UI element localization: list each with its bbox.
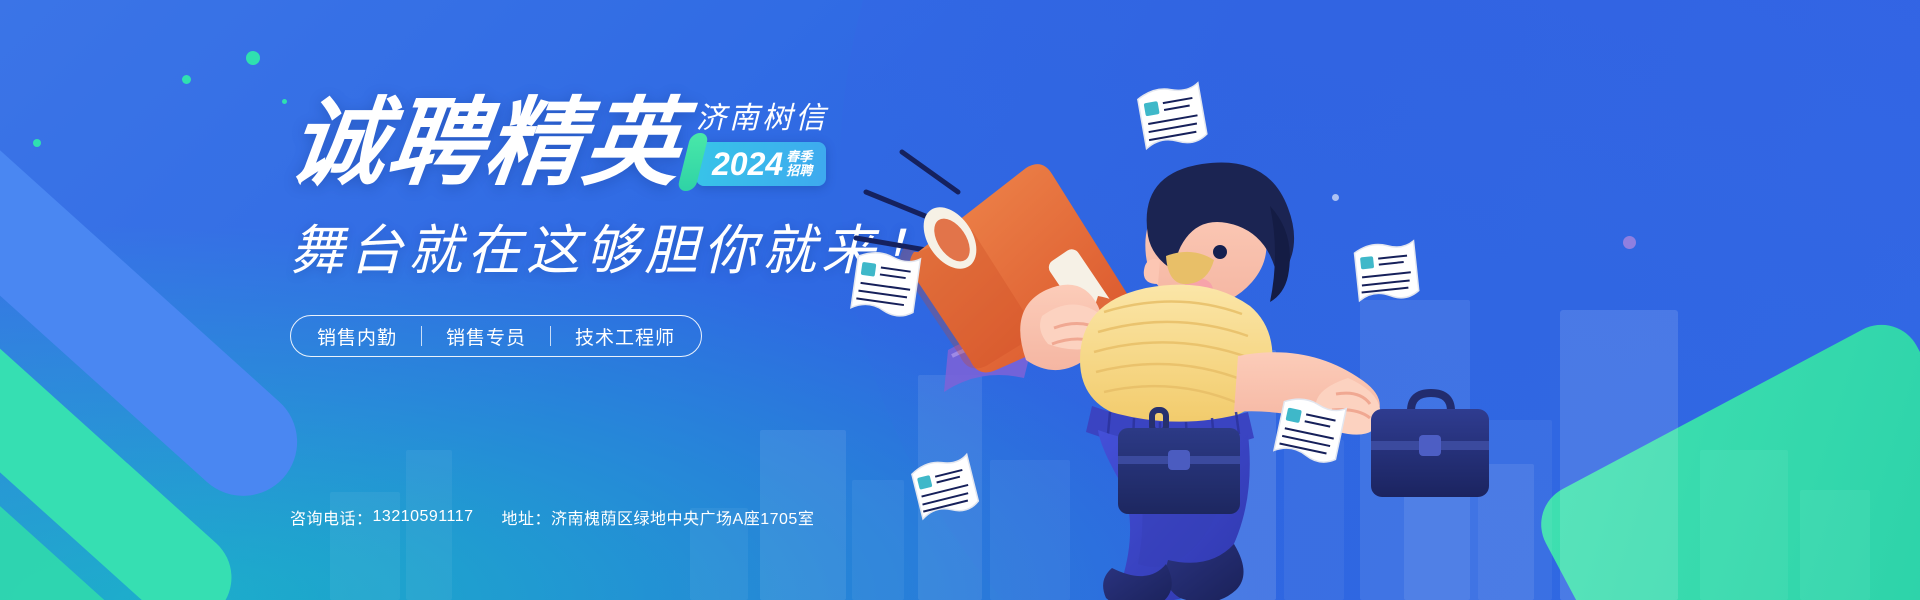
badge-season-line2: 招聘 [786, 164, 812, 178]
page-title: 诚聘精英 [284, 96, 688, 192]
phone-label: 咨询电话： [290, 505, 373, 529]
accent-dot [33, 139, 41, 147]
accent-dot [246, 51, 260, 65]
badge-year: 2024 [712, 148, 783, 180]
contact-line: 咨询电话： 13210591117 地址： 济南槐荫区绿地中央广场A座1705室 [290, 505, 814, 529]
phone-number[interactable]: 13210591117 [373, 508, 474, 526]
brand-block: 济南树信 2024 春季 招聘 [696, 102, 828, 186]
badge-season: 春季 招聘 [786, 150, 812, 178]
badge-season-line1: 春季 [786, 150, 812, 164]
role-item-1[interactable]: 销售专员 [446, 323, 526, 350]
role-list: 销售内勤 销售专员 技术工程师 [290, 315, 702, 357]
role-separator [550, 326, 551, 346]
status-badge: 2024 春季 招聘 [696, 142, 826, 186]
resume-paper [1258, 387, 1357, 482]
resume-paper [1124, 75, 1218, 165]
resume-paper [835, 242, 931, 334]
brand-name: 济南树信 [696, 102, 828, 135]
briefcase-handle-icon [1411, 393, 1451, 411]
recruitment-banner: 诚聘精英 济南树信 2024 春季 招聘 舞台就在这够胆你就来！ 销售内勤 销售… [0, 0, 1920, 600]
role-separator [421, 326, 422, 346]
resume-paper [1341, 234, 1428, 317]
address-value: 济南槐荫区绿地中央广场A座1705室 [551, 505, 814, 529]
role-item-2[interactable]: 技术工程师 [575, 323, 675, 350]
accent-dot [182, 75, 191, 84]
accent-dot [1623, 236, 1636, 249]
character-head [1144, 162, 1294, 305]
address-label: 地址： [502, 505, 552, 529]
accent-dot [282, 99, 287, 104]
briefcase-layer [1355, 385, 1505, 515]
role-item-0[interactable]: 销售内勤 [317, 323, 397, 350]
